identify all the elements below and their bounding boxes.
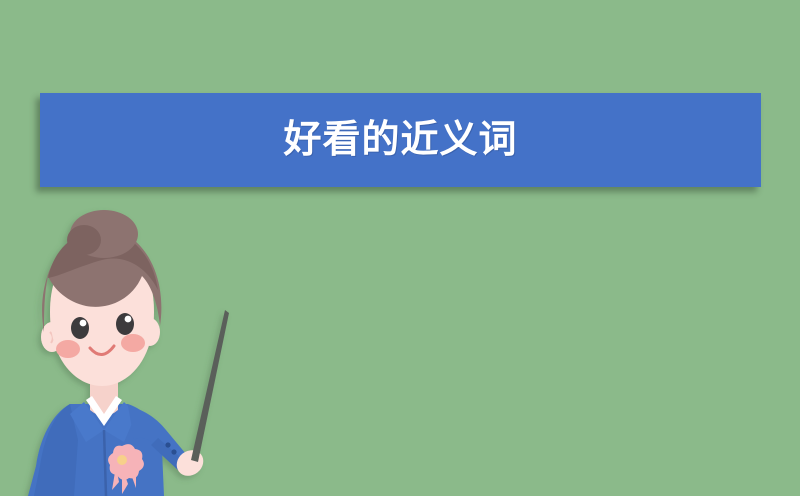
title-banner: 好看的近义词 xyxy=(40,93,761,187)
teacher-figure-icon xyxy=(12,214,262,496)
pointer-stick-icon xyxy=(191,310,229,462)
eye-right-icon xyxy=(116,313,134,335)
page-title: 好看的近义词 xyxy=(283,121,517,159)
blush-left-icon xyxy=(56,340,80,358)
cuff-button-icon xyxy=(165,442,170,447)
hair-bun-shadow-icon xyxy=(67,225,101,255)
eye-left-highlight-icon xyxy=(80,320,87,327)
teacher-illustration xyxy=(12,214,262,496)
slide-canvas: 好看的近义词 xyxy=(0,0,800,496)
eye-right-highlight-icon xyxy=(125,316,132,323)
eye-left-icon xyxy=(71,317,89,339)
cuff-button-icon xyxy=(171,449,176,454)
blush-right-icon xyxy=(121,334,145,352)
